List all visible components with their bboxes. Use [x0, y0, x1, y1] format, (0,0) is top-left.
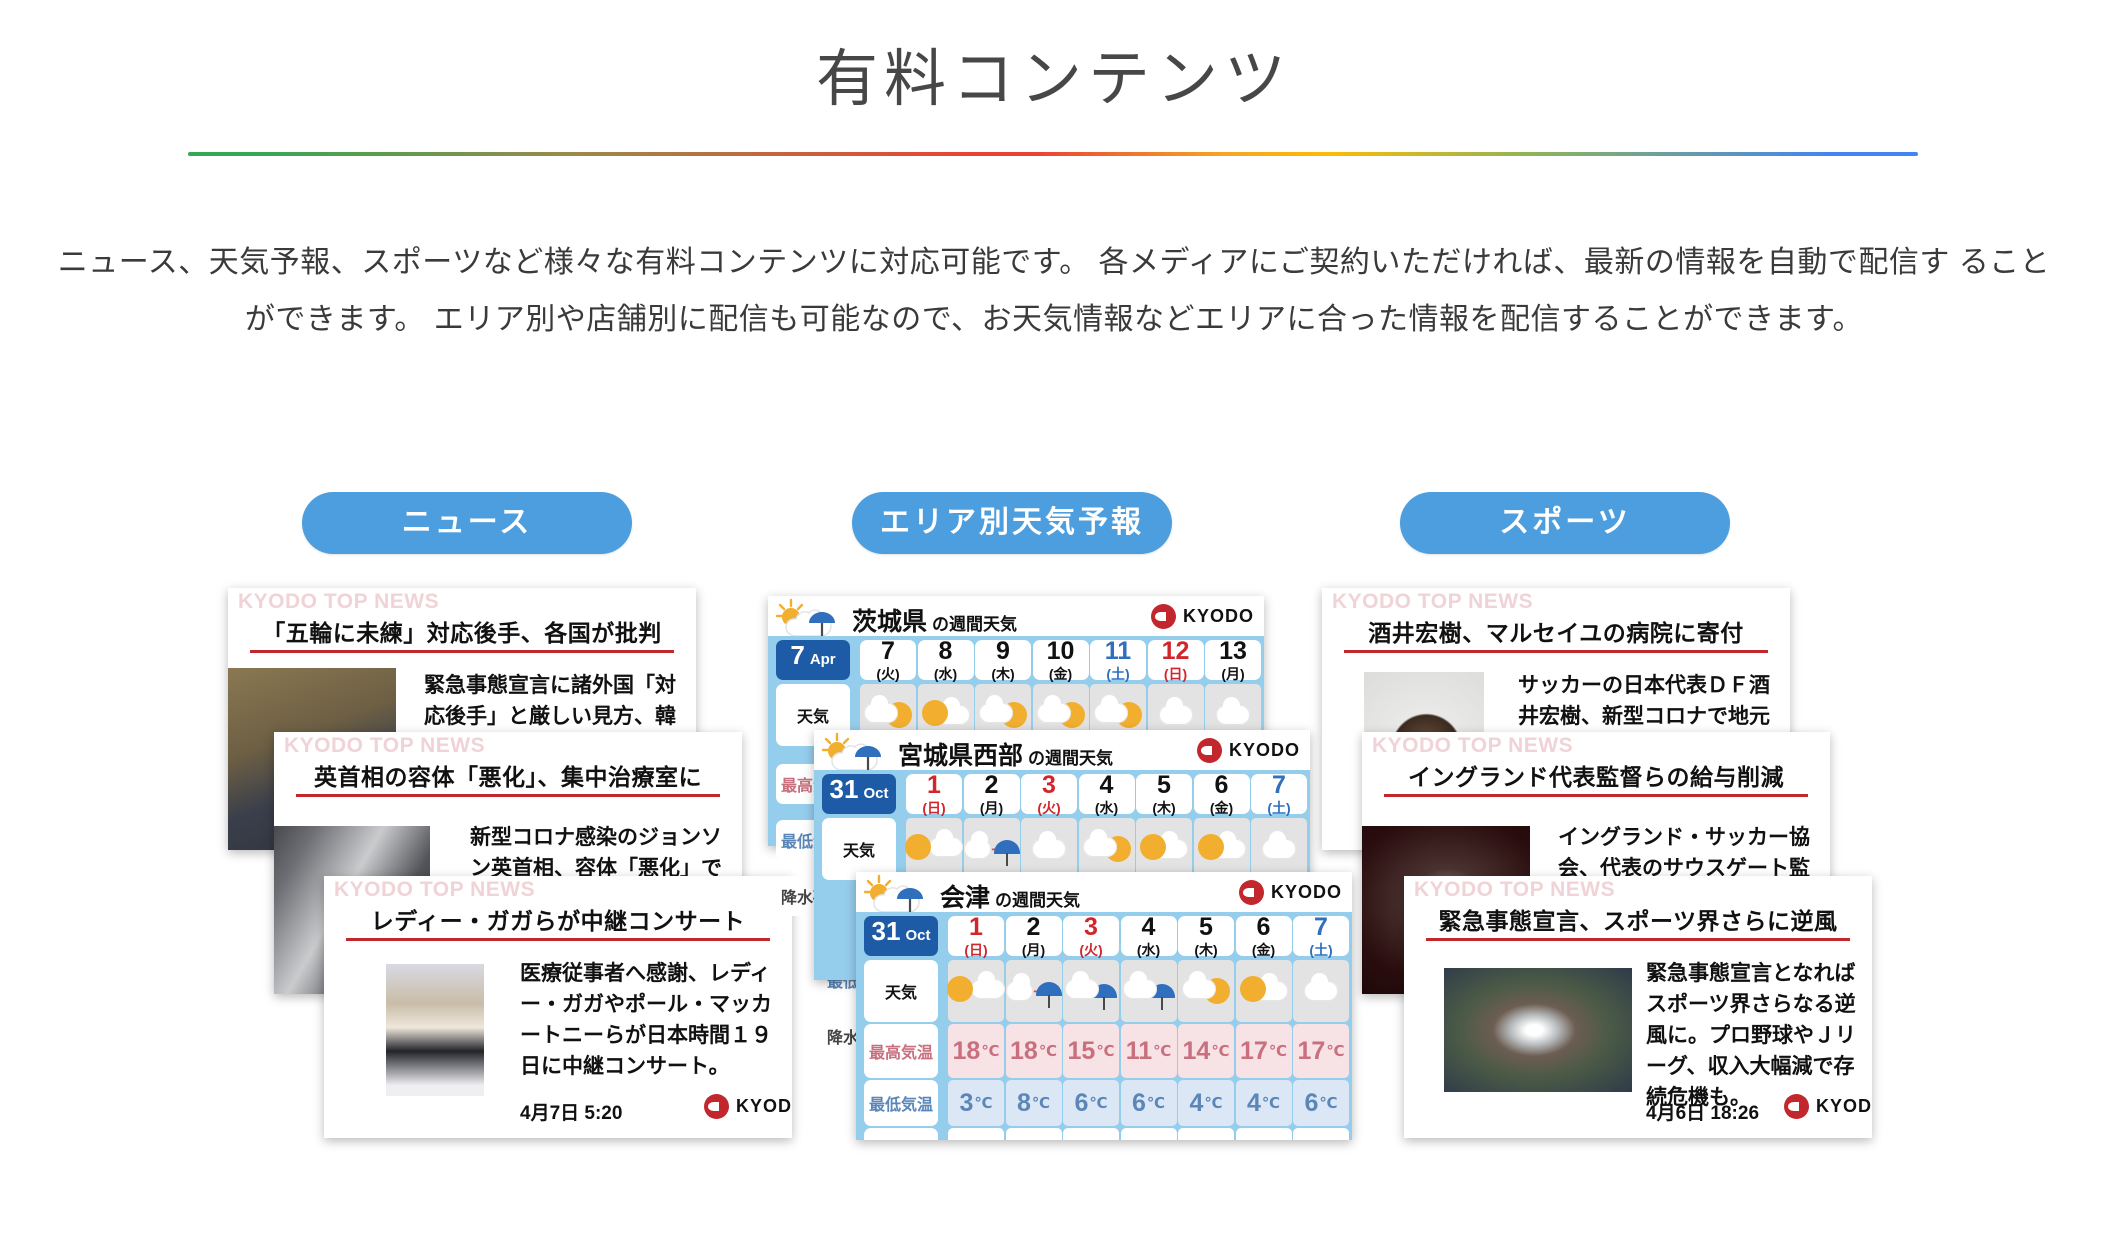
cloud-icon: [1006, 981, 1033, 1001]
cloud-icon: [1216, 705, 1250, 725]
weather-day-weekday: (火): [1079, 943, 1102, 957]
kyodo-logo: KYODO: [1151, 604, 1254, 629]
weather-day-weekday: (月): [1221, 667, 1244, 681]
weather-day-header: 1(日): [948, 916, 1004, 956]
weather-day-weekday: (月): [980, 801, 1003, 815]
cloud-icon: [1123, 979, 1157, 999]
weather-day-number: 7: [1314, 915, 1328, 940]
cloud-icon: [1094, 703, 1128, 723]
weather-low-temp: 6℃: [1121, 1080, 1177, 1126]
weather-high-temp: 11℃: [1121, 1024, 1177, 1078]
weather-row-label: 最低気温: [864, 1080, 938, 1126]
sun-icon: [922, 700, 948, 726]
sun-icon: [1240, 976, 1266, 1002]
cloud-icon: [1159, 705, 1193, 725]
cloud-icon: [929, 837, 963, 857]
weather-day-header: 2(月): [1006, 916, 1062, 956]
sports-headline: 酒井宏樹、マルセイユの病院に寄付: [1322, 614, 1790, 648]
weather-low-temp: 6℃: [1293, 1080, 1349, 1126]
weather-day-number: 3: [1042, 773, 1056, 798]
weather-day-number: 1: [927, 773, 941, 798]
cloud-icon: [1262, 839, 1296, 859]
weather-low-temp: 8℃: [1006, 1080, 1062, 1126]
page-title: 有料コンテンツ: [0, 28, 2108, 118]
news-headline: 英首相の容体「悪化」、集中治療室に: [274, 758, 742, 792]
weather-high-temp: 18℃: [1006, 1024, 1062, 1078]
kyodo-wordmark: KYODO: [1229, 740, 1300, 761]
weather-date-box: 31Oct: [822, 774, 896, 814]
weather-date-month: Oct: [863, 785, 888, 802]
kyodo-logo: KYODO: [1197, 738, 1300, 763]
lead-paragraph: ニュース、天気予報、スポーツなど様々な有料コンテンツに対応可能です。 各メディア…: [44, 234, 2064, 348]
sun-icon: [1140, 834, 1166, 860]
headline-rule: [1384, 794, 1808, 797]
weather-row-label: 天気: [822, 818, 896, 880]
weather-day-header: 9(木): [975, 640, 1031, 680]
kyodo-mark-icon: [1197, 738, 1222, 763]
weather-day-number: 7: [881, 639, 895, 664]
weather-day-weekday: (火): [1037, 801, 1060, 815]
weather-low-temp: 4℃: [1236, 1080, 1292, 1126]
cloud-icon: [1037, 703, 1071, 723]
headline-rule: [346, 938, 770, 941]
weather-day-weekday: (土): [1267, 801, 1290, 815]
kyodo-mark-icon: [1151, 604, 1176, 629]
weather-day-weekday: (土): [1106, 667, 1129, 681]
weather-day-number: 10: [1047, 639, 1075, 664]
weather-day-number: 2: [985, 773, 999, 798]
weather-day-number: 5: [1199, 915, 1213, 940]
cloud-icon: [1083, 837, 1117, 857]
weather-date-number: 31: [872, 916, 901, 947]
weather-day-header: 7(火): [860, 640, 916, 680]
sports-headline: イングランド代表監督らの給与削減: [1362, 758, 1830, 792]
weather-day-weekday: (金): [1252, 943, 1275, 957]
weather-day-number: 12: [1162, 639, 1190, 664]
weather-high-temp: 17℃: [1236, 1024, 1292, 1078]
weather-day-header: 4(水): [1079, 774, 1135, 814]
kyodo-logo: KYODO: [1239, 880, 1342, 905]
kyodo-wordmark: KYODO: [736, 1096, 792, 1117]
kyodo-wordmark: KYODO: [1271, 882, 1342, 903]
weather-condition-icon: [1121, 960, 1177, 1022]
kyodo-mark-icon: [1239, 880, 1264, 905]
weather-date-box: 7Apr: [776, 640, 850, 680]
cloud-icon: [1032, 839, 1066, 859]
category-pill-sports[interactable]: スポーツ: [1400, 492, 1730, 554]
weather-day-header: 5(木): [1136, 774, 1192, 814]
cloud-icon: [964, 839, 991, 859]
kyodo-mark-icon: [704, 1094, 729, 1119]
news-card[interactable]: KYODO TOP NEWS レディー・ガガらが中継コンサート 医療従事者へ感謝…: [324, 876, 792, 1138]
weather-condition-icon: [1251, 818, 1307, 880]
kyodo-top-news-watermark: KYODO TOP NEWS: [1414, 878, 1615, 902]
weather-day-weekday: (木): [1152, 801, 1175, 815]
weather-day-header: 1(日): [906, 774, 962, 814]
news-headline: 「五輪に未練」対応後手、各国が批判: [228, 614, 696, 648]
weather-high-temp: 17℃: [1293, 1024, 1349, 1078]
weather-day-number: 8: [939, 639, 953, 664]
weather-card-header: 宮城県西部の週間天気KYODO: [814, 730, 1310, 770]
weather-day-weekday: (日): [1164, 667, 1187, 681]
weather-date-number: 7: [790, 640, 804, 671]
weather-day-number: 4: [1142, 915, 1156, 940]
weather-day-header: 2(月): [964, 774, 1020, 814]
sun-icon: [1198, 834, 1224, 860]
sun-icon: [905, 834, 931, 860]
weather-row-label: 降水確率: [864, 1128, 938, 1140]
kyodo-wordmark: KYODO: [1183, 606, 1254, 627]
weather-condition-icon: [1136, 818, 1192, 880]
weather-day-weekday: (木): [1194, 943, 1217, 957]
weather-high-temp: 14℃: [1178, 1024, 1234, 1078]
weather-day-weekday: (水): [1095, 801, 1118, 815]
weather-day-header: 3(火): [1063, 916, 1119, 956]
weather-grid: 31Oct天気最高気温最低気温降水確率1(日)➜18℃3℃10%2(月)➜18℃…: [856, 912, 1352, 1140]
weather-day-weekday: (火): [876, 667, 899, 681]
weather-day-weekday: (月): [1022, 943, 1045, 957]
weather-low-temp: 6℃: [1063, 1080, 1119, 1126]
weather-day-weekday: (水): [934, 667, 957, 681]
kyodo-logo: KYODO: [704, 1094, 792, 1119]
weather-day-weekday: (土): [1309, 943, 1332, 957]
weather-day-header: 4(水): [1121, 916, 1177, 956]
weather-day-weekday: (木): [991, 667, 1014, 681]
kyodo-top-news-watermark: KYODO TOP NEWS: [334, 878, 535, 902]
weather-precip-probability: 60%: [1063, 1128, 1119, 1140]
weather-card-header: 会津の週間天気KYODO: [856, 872, 1352, 912]
weather-precip-probability: 50%: [1121, 1128, 1177, 1140]
umbrella-icon: [1036, 982, 1062, 996]
kyodo-logo: KYODO: [1784, 1094, 1872, 1119]
weather-day-number: 5: [1157, 773, 1171, 798]
category-pill-weather[interactable]: エリア別天気予報: [852, 492, 1172, 554]
weather-region-name: 会津の週間天気: [940, 878, 1080, 914]
weather-day-number: 2: [1027, 915, 1041, 940]
sports-headline: 緊急事態宣言、スポーツ界さらに逆風: [1404, 902, 1872, 936]
cloud-icon: [1304, 981, 1338, 1001]
cloud-icon: [1065, 979, 1099, 999]
sports-body: 緊急事態宣言となればスポーツ界さらなる逆風に。プロ野球やＪリーグ、収入大幅減で存…: [1646, 958, 1862, 1113]
weather-condition-icon: ➜: [964, 818, 1020, 880]
weather-day-header: 6(金): [1194, 774, 1250, 814]
weather-precip-probability: 70%: [1006, 1128, 1062, 1140]
weather-row-label: 最高気温: [864, 1024, 938, 1078]
umbrella-icon: [994, 840, 1020, 854]
lead-line-1: ニュース、天気予報、スポーツなど様々な有料コンテンツに対応可能です。 各メディア…: [58, 246, 1950, 279]
weather-day-header: 12(日): [1148, 640, 1204, 680]
weather-day-header: 13(月): [1205, 640, 1261, 680]
weather-day-number: 7: [1272, 773, 1286, 798]
weather-row-label: 天気: [864, 960, 938, 1022]
weather-day-header: 7(土): [1251, 774, 1307, 814]
weather-day-number: 3: [1084, 915, 1098, 940]
kyodo-wordmark: KYODO: [1816, 1096, 1872, 1117]
weather-condition-icon: ➜: [1006, 960, 1062, 1022]
kyodo-top-news-watermark: KYODO TOP NEWS: [1332, 590, 1533, 614]
weather-low-temp: 4℃: [1178, 1080, 1234, 1126]
cloud-icon: [864, 703, 898, 723]
weather-condition-icon: [1178, 960, 1234, 1022]
weather-day-weekday: (金): [1049, 667, 1072, 681]
headline-rule: [1426, 938, 1850, 941]
weather-high-temp: 18℃: [948, 1024, 1004, 1078]
weather-high-temp: 15℃: [1063, 1024, 1119, 1078]
weather-condition-icon: [1293, 960, 1349, 1022]
weather-title-suffix: の週間天気: [995, 891, 1080, 910]
sports-timestamp: 4月6日 18:26: [1646, 1098, 1759, 1125]
category-pill-news[interactable]: ニュース: [302, 492, 632, 554]
sun-icon: [947, 976, 973, 1002]
weather-condition-icon: [1236, 960, 1292, 1022]
weather-region-name: 茨城県の週間天気: [852, 602, 1017, 638]
kyodo-mark-icon: [1784, 1094, 1809, 1119]
weather-date-number: 31: [830, 774, 859, 805]
news-timestamp: 4月7日 5:20: [520, 1098, 622, 1125]
weather-day-number: 11: [1105, 639, 1131, 664]
weather-day-number: 4: [1100, 773, 1114, 798]
weather-day-number: 6: [1215, 773, 1229, 798]
weather-day-weekday: (日): [922, 801, 945, 815]
weather-region-name: 宮城県西部の週間天気: [898, 736, 1113, 772]
weather-day-header: 3(火): [1021, 774, 1077, 814]
weather-day-weekday: (金): [1210, 801, 1233, 815]
sports-card[interactable]: KYODO TOP NEWS 緊急事態宣言、スポーツ界さらに逆風 緊急事態宣言と…: [1404, 876, 1872, 1138]
weather-precip-probability: 30%: [1293, 1128, 1349, 1140]
weather-condition-icon: [1021, 818, 1077, 880]
weather-low-temp: 3℃: [948, 1080, 1004, 1126]
cloud-icon: [971, 979, 1005, 999]
kyodo-top-news-watermark: KYODO TOP NEWS: [1372, 734, 1573, 758]
kyodo-top-news-watermark: KYODO TOP NEWS: [238, 590, 439, 614]
weather-day-header: 11(土): [1090, 640, 1146, 680]
weather-condition-icon: [1063, 960, 1119, 1022]
weather-day-number: 6: [1257, 915, 1271, 940]
news-thumbnail: [386, 964, 484, 1096]
headline-rule: [296, 794, 720, 797]
weather-day-header: 10(金): [1033, 640, 1089, 680]
weather-condition-icon: ➜: [906, 818, 962, 880]
weather-day-number: 13: [1219, 639, 1247, 664]
weather-day-header: 7(土): [1293, 916, 1349, 956]
weather-day-header: 6(金): [1236, 916, 1292, 956]
weather-precip-probability: 10%: [948, 1128, 1004, 1140]
sports-thumbnail: [1444, 968, 1632, 1092]
headline-rule: [250, 650, 674, 653]
weather-day-number: 1: [969, 915, 983, 940]
weather-day-number: 9: [996, 639, 1010, 664]
news-headline: レディー・ガガらが中継コンサート: [324, 902, 792, 936]
weather-precip-probability: 30%: [1178, 1128, 1234, 1140]
weather-date-month: Apr: [810, 651, 836, 668]
weather-precip-probability: 20%: [1236, 1128, 1292, 1140]
weather-condition-icon: ➜: [948, 960, 1004, 1022]
cloud-icon: [1182, 979, 1216, 999]
weather-date-month: Oct: [905, 927, 930, 944]
weather-date-box: 31Oct: [864, 916, 938, 956]
weather-day-weekday: (水): [1137, 943, 1160, 957]
news-body: 医療従事者へ感謝、レディー・ガガやポール・マッカートニーらが日本時間１９日に中継…: [520, 958, 782, 1082]
weather-condition-icon: [1194, 818, 1250, 880]
weather-title-suffix: の週間天気: [932, 615, 1017, 634]
weather-card-header: 茨城県の週間天気KYODO: [768, 596, 1264, 636]
cloud-icon: [979, 703, 1013, 723]
weather-day-header: 5(木): [1178, 916, 1234, 956]
weather-card[interactable]: 会津の週間天気KYODO31Oct天気最高気温最低気温降水確率1(日)➜18℃3…: [856, 872, 1352, 1140]
headline-rule: [1344, 650, 1768, 653]
kyodo-top-news-watermark: KYODO TOP NEWS: [284, 734, 485, 758]
weather-title-suffix: の週間天気: [1028, 749, 1113, 768]
weather-condition-icon: [1079, 818, 1135, 880]
weather-day-header: 8(水): [918, 640, 974, 680]
weather-day-weekday: (日): [964, 943, 987, 957]
gradient-divider: [188, 152, 1918, 156]
